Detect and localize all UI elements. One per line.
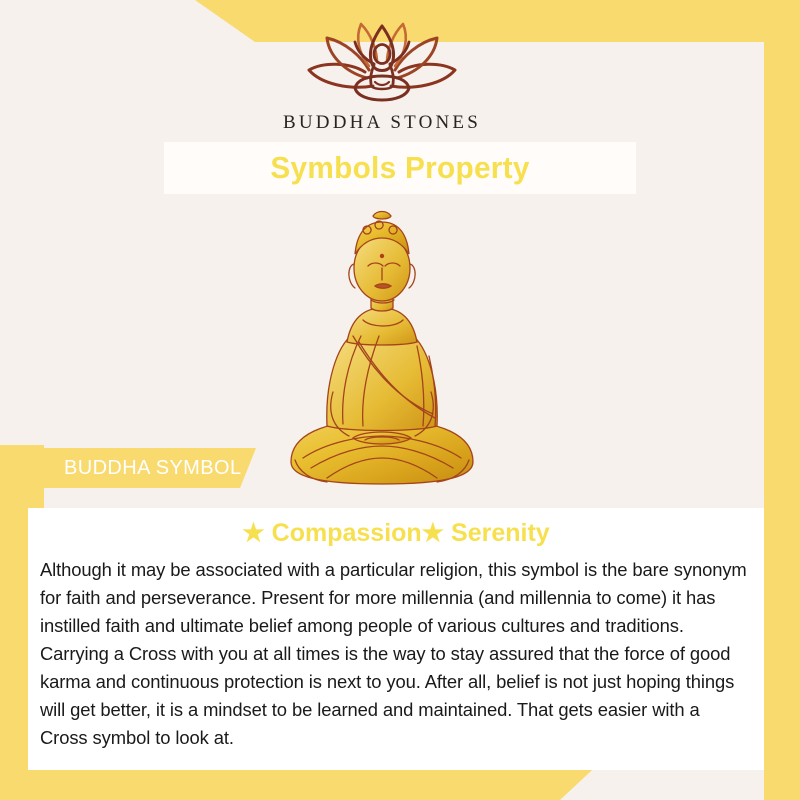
page-title: Symbols Property <box>270 150 529 186</box>
content-subtitle: ★ Compassion★ Serenity <box>28 518 764 548</box>
frame-right-band <box>764 0 800 800</box>
status-badge-label: BUDDHA SYMBOL <box>64 457 241 480</box>
status-badge: BUDDHA SYMBOL <box>44 448 256 488</box>
golden-buddha-statue-icon <box>267 196 497 496</box>
promo-banner: BUDDHA STONES Symbols Property <box>0 0 800 800</box>
brand-name: BUDDHA STONES <box>283 112 481 134</box>
lotus-meditation-figure-icon <box>297 20 467 106</box>
content-panel: ★ Compassion★ Serenity Although it may b… <box>28 508 764 770</box>
title-panel: Symbols Property <box>164 142 636 194</box>
content-paragraph: Although it may be associated with a par… <box>40 556 752 752</box>
brand-logo: BUDDHA STONES <box>0 20 764 134</box>
